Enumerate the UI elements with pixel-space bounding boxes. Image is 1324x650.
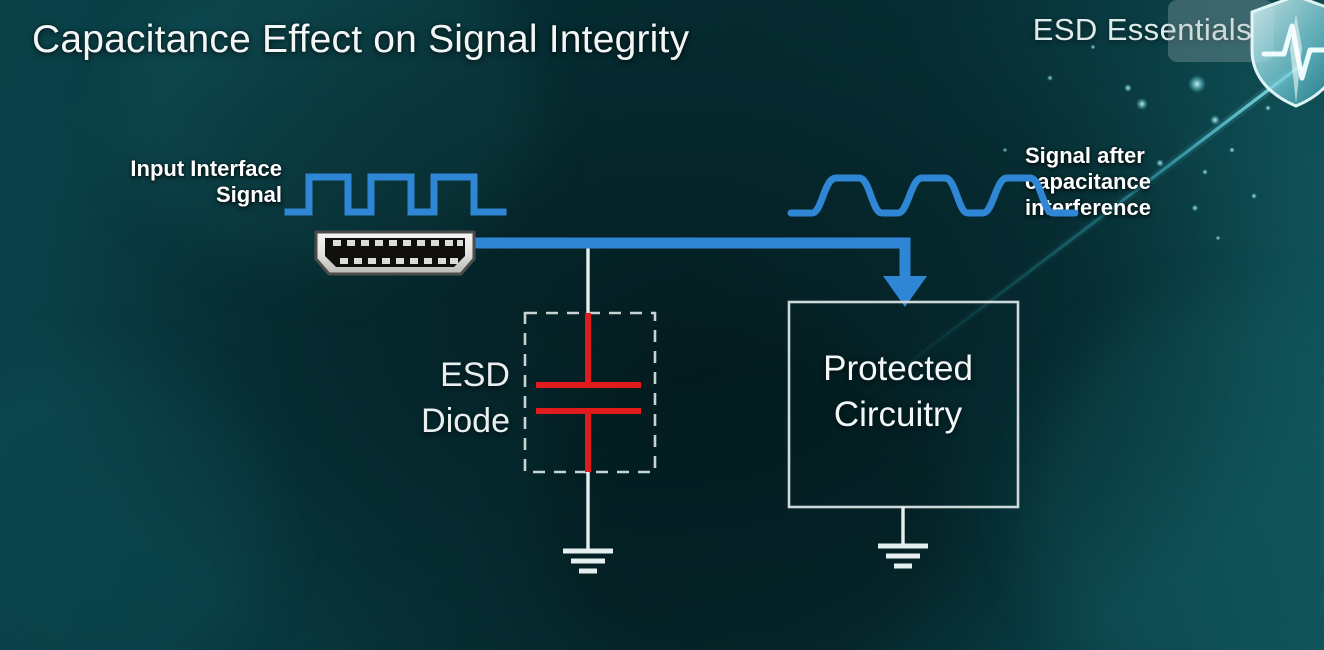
input-waveform-sharp [288,177,503,212]
protected-circuitry-label-line2: Circuitry [800,392,996,438]
protected-circuitry-label: Protected Circuitry [800,346,996,437]
output-waveform-rounded [791,178,1075,213]
capacitor-symbol [536,313,641,472]
signal-trace-blue [475,243,927,307]
ground-symbol-left [563,540,613,571]
slide-canvas: Capacitance Effect on Signal Integrity E… [0,0,1324,650]
circuit-diagram [0,0,1324,650]
protected-circuitry-label-line1: Protected [800,346,996,392]
ground-symbol-right [878,507,928,566]
hdmi-connector-icon [311,229,479,277]
